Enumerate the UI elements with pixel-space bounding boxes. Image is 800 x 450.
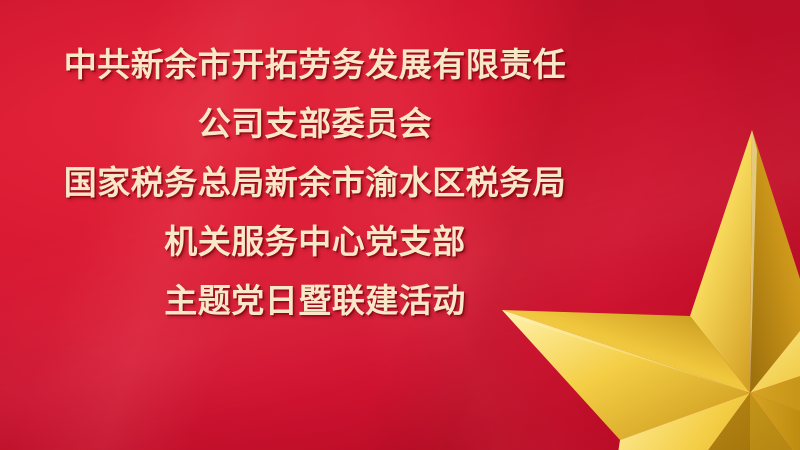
title-line-5: 主题党日暨联建活动	[0, 284, 630, 317]
banner-title-block: 中共新余市开拓劳务发展有限责任 公司支部委员会 国家税务总局新余市渝水区税务局 …	[0, 48, 630, 317]
party-event-banner: 中共新余市开拓劳务发展有限责任 公司支部委员会 国家税务总局新余市渝水区税务局 …	[0, 0, 800, 450]
title-line-1: 中共新余市开拓劳务发展有限责任	[0, 48, 630, 81]
title-line-2: 公司支部委员会	[0, 107, 630, 140]
title-line-4: 机关服务中心党支部	[0, 225, 630, 258]
title-line-3: 国家税务总局新余市渝水区税务局	[0, 166, 630, 199]
